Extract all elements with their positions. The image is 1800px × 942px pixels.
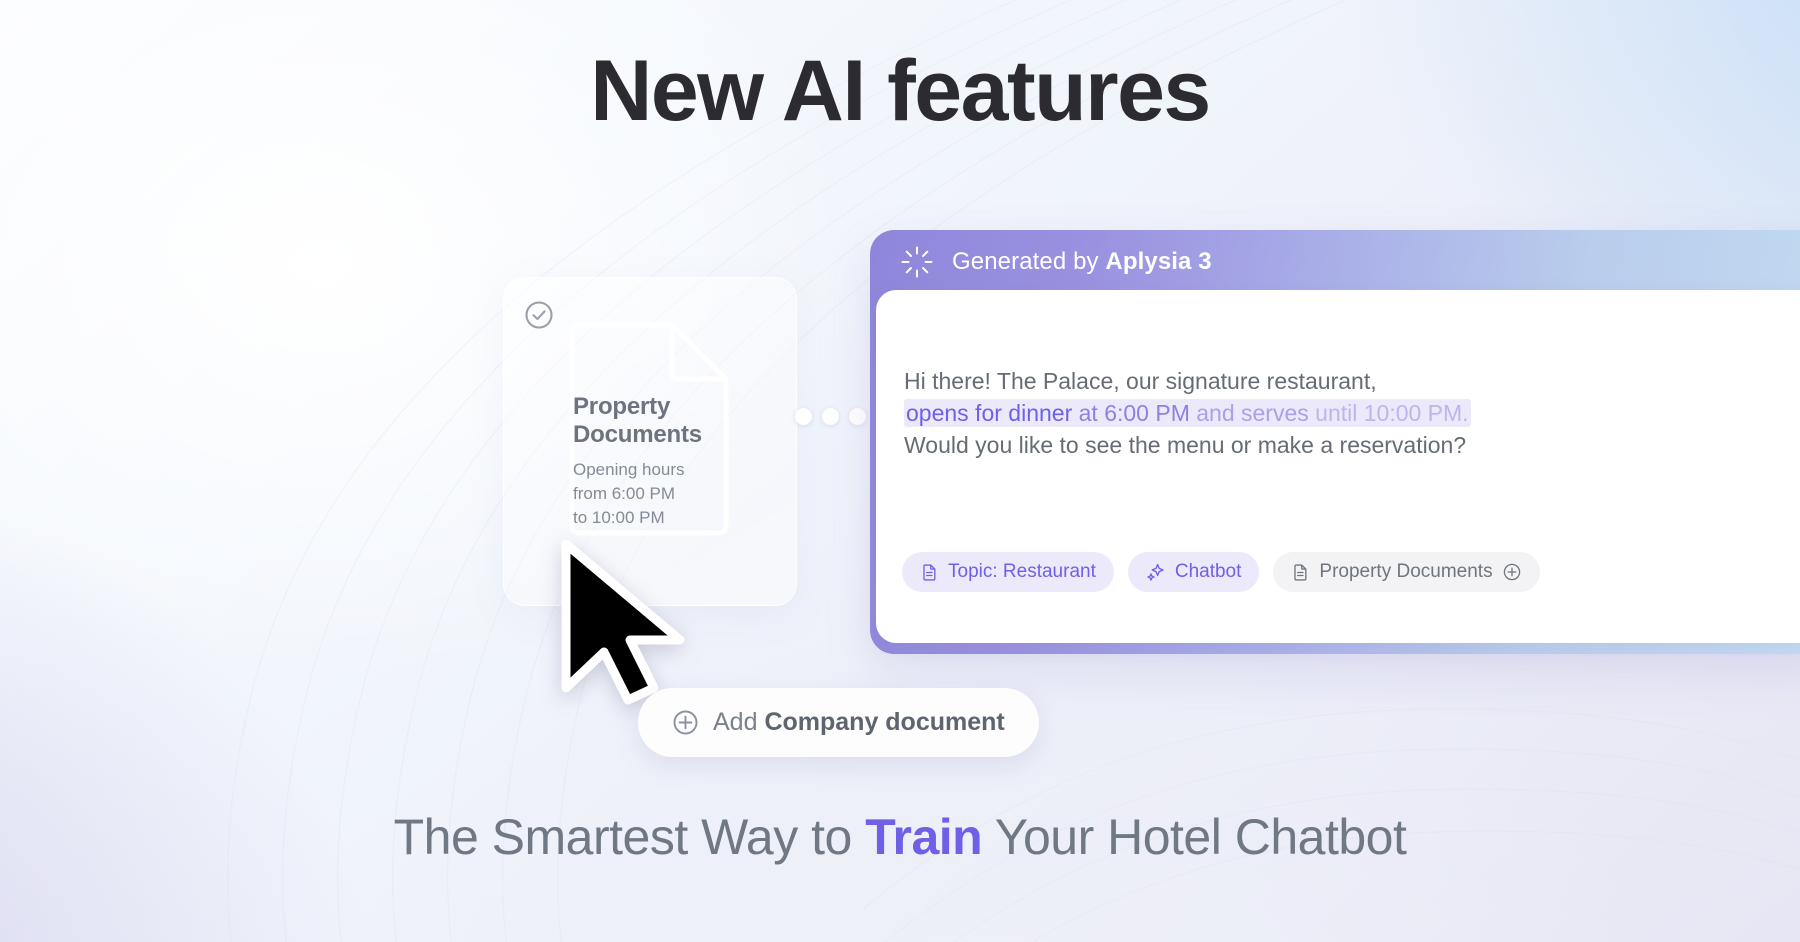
plus-circle-icon — [672, 709, 699, 736]
panel-header: Generated by Aplysia 3 — [876, 234, 1800, 290]
mouse-cursor-icon — [560, 540, 710, 710]
plus-circle-icon[interactable] — [1502, 562, 1522, 582]
connector-dots — [795, 408, 866, 425]
add-button-label: Add Company document — [713, 708, 1005, 737]
chip-label: Property Documents — [1319, 561, 1492, 583]
generated-answer-panel: Generated by Aplysia 3 Hi there! The Pal… — [870, 230, 1800, 654]
sparkle-spinner-icon — [900, 245, 934, 279]
panel-header-model: Aplysia 3 — [1105, 248, 1211, 275]
page-title: New AI features — [0, 48, 1800, 134]
check-circle-icon — [523, 299, 555, 331]
chip-label: Chatbot — [1175, 561, 1242, 583]
tagline-accent: Train — [865, 809, 982, 865]
message-line-1: Hi there! The Palace, our signature rest… — [904, 365, 1604, 397]
source-chips: Topic: Restaurant Chatbot — [902, 552, 1540, 592]
document-card-title: Property Documents — [573, 393, 783, 449]
document-card-subtitle: Opening hours from 6:00 PM to 10:00 PM — [573, 458, 763, 530]
panel-body: Hi there! The Palace, our signature rest… — [876, 290, 1800, 643]
message-line-2-a: opens for dinner — [906, 400, 1072, 426]
poster-canvas: New AI features Property Documents Openi… — [0, 0, 1800, 942]
add-button-strong: Company document — [764, 708, 1004, 736]
message-line-3: Would you like to see the menu or make a… — [904, 429, 1604, 461]
add-company-document-button[interactable]: Add Company document — [638, 688, 1039, 757]
connector-dot — [849, 408, 866, 425]
connector-dot — [795, 408, 812, 425]
sparkle-icon — [1146, 562, 1166, 582]
chip-topic-restaurant[interactable]: Topic: Restaurant — [902, 552, 1114, 592]
tagline-after: Your Hotel Chatbot — [982, 809, 1406, 865]
document-icon — [1291, 563, 1310, 582]
message-line-2-d: until 10:00 PM. — [1309, 400, 1469, 426]
connector-dot — [822, 408, 839, 425]
message-line-2-b: at 6:00 PM — [1072, 400, 1190, 426]
message-line-2-c: and serves — [1190, 400, 1309, 426]
panel-header-label: Generated by Aplysia 3 — [952, 248, 1212, 276]
chip-label: Topic: Restaurant — [948, 561, 1096, 583]
assistant-message: Hi there! The Palace, our signature rest… — [904, 365, 1604, 461]
chip-chatbot[interactable]: Chatbot — [1128, 552, 1260, 592]
highlighted-span: opens for dinner at 6:00 PM and serves u… — [904, 399, 1471, 427]
page-tagline: The Smartest Way to Train Your Hotel Cha… — [0, 812, 1800, 862]
tagline-before: The Smartest Way to — [394, 809, 866, 865]
message-line-2: opens for dinner at 6:00 PM and serves u… — [904, 397, 1604, 429]
document-icon — [920, 563, 939, 582]
chip-property-documents[interactable]: Property Documents — [1273, 552, 1539, 592]
panel-header-prefix: Generated by — [952, 248, 1105, 275]
add-button-prefix: Add — [713, 708, 764, 736]
